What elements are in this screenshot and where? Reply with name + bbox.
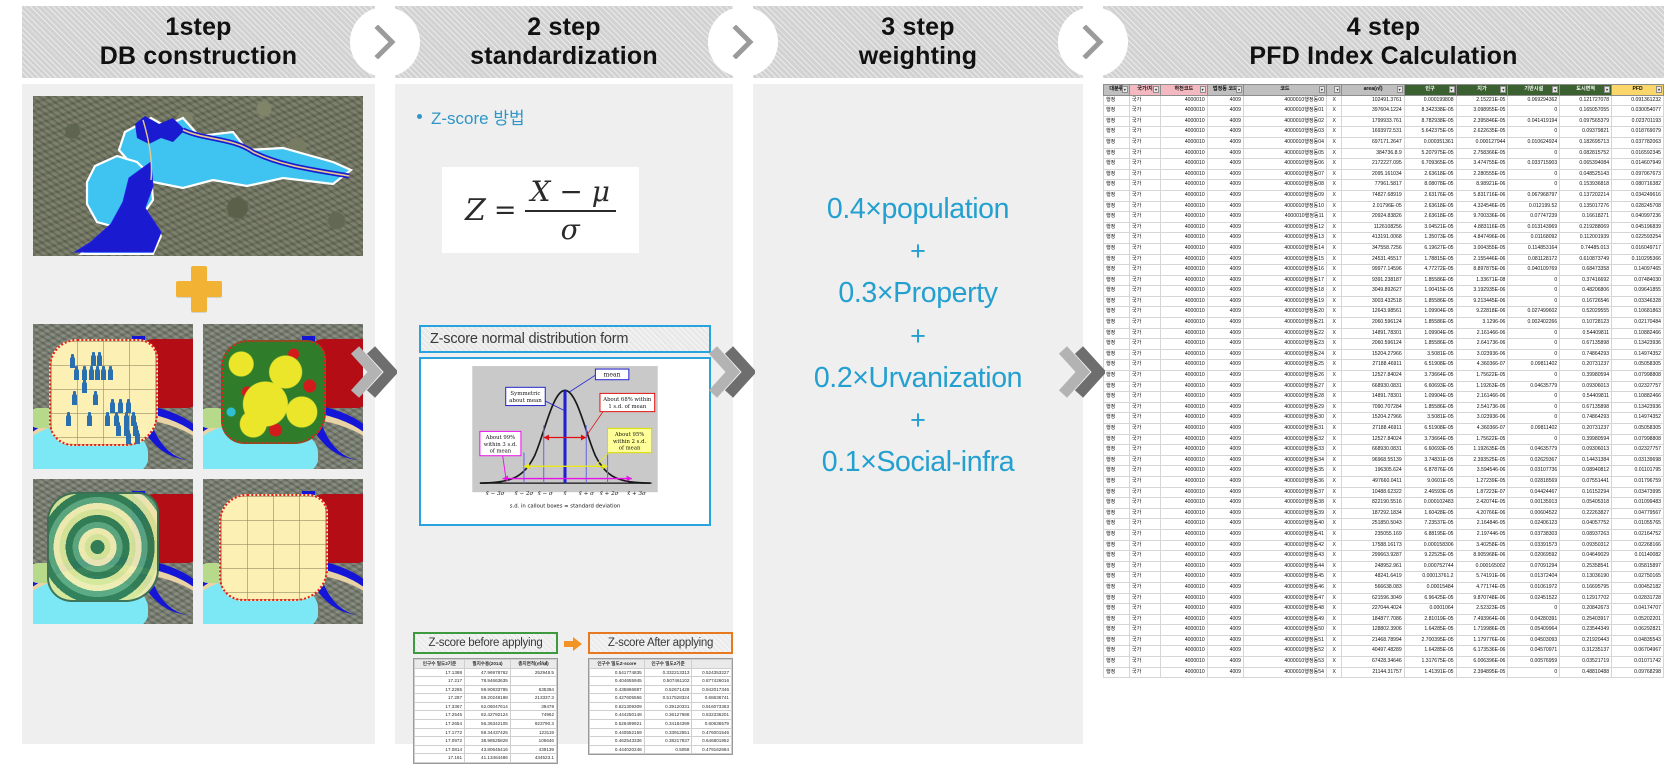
filter-dropdown-icon[interactable]: ▾	[1153, 86, 1159, 93]
table-cell: X	[1326, 582, 1342, 593]
table-cell: 4009	[1207, 201, 1243, 212]
table-row[interactable]: 행정국가400001040094000010행정동50X128802.39061…	[1104, 625, 1664, 636]
table-row[interactable]: 행정국가400001040094000010행정동08X77961.58178.…	[1104, 180, 1664, 191]
table-cell: 0.36127688	[644, 711, 692, 720]
table-row[interactable]: 행정국가400001040094000010행정동23X2060.5961241…	[1104, 339, 1664, 350]
table-row[interactable]: 행정국가400001040094000010행정동35X196305.6246.…	[1104, 466, 1664, 477]
table-cell: 0.68473358	[1560, 265, 1612, 276]
table-cell: 4000010행정동51	[1243, 635, 1326, 646]
table-cell: 0.621309309	[590, 702, 645, 711]
table-cell: 4000010	[1161, 286, 1208, 297]
table-cell: 0.00576959	[1508, 657, 1560, 668]
table-cell: 2060.596124	[1342, 318, 1404, 329]
table-row[interactable]: 행정국가400001040094000010행정동16X99977.145964…	[1104, 265, 1664, 276]
table-cell: 행정	[1104, 593, 1130, 604]
table-cell: 0	[1508, 604, 1560, 615]
table-cell: 행정	[1104, 371, 1130, 382]
table-cell: 0.444250148	[590, 711, 645, 720]
table-row[interactable]: 행정국가400001040094000010행정동05X384736.8.95.…	[1104, 148, 1664, 159]
table-cell: 4000010행정동25	[1243, 360, 1326, 371]
column-header[interactable]: 법정동 코드▾	[1207, 85, 1243, 96]
table-cell: 0.06704967	[1612, 646, 1664, 657]
table-cell: 행정	[1104, 275, 1130, 286]
table-cell: 0.22263827	[1560, 508, 1612, 519]
step-3-column: 3 step weighting 0.4×population+0.3×Prop…	[743, 0, 1093, 748]
column-header[interactable]: 하천코드▾	[1161, 85, 1208, 96]
table-cell: 2095.161034	[1342, 169, 1404, 180]
table-cell: X	[1326, 318, 1342, 329]
column-header[interactable]: 대분류▾	[1104, 85, 1130, 96]
table-cell: 24531.45517	[1342, 254, 1404, 265]
table-row[interactable]: 행정국가400001040094000010행정동31X27188.469116…	[1104, 424, 1664, 435]
table-row[interactable]: 행정국가400001040094000010행정동17X9391.2381871…	[1104, 275, 1664, 286]
table-cell: 행정	[1104, 307, 1130, 318]
table-row[interactable]: 행정국가400001040094000010행정동06X2172227.0956…	[1104, 159, 1664, 170]
table-cell: 0.02750165	[1612, 572, 1664, 583]
table-cell: 2.63618E-05	[1404, 201, 1456, 212]
table-row[interactable]: 행정국가400001040094000010행정동18X3049.8926271…	[1104, 286, 1664, 297]
table-cell: 행정	[1104, 487, 1130, 498]
table-row[interactable]: 행정국가400001040094000010행정동21X2060.5961241…	[1104, 318, 1664, 329]
table-row[interactable]: 행정국가400001040094000010행정동30X15204.279663…	[1104, 413, 1664, 424]
table-cell: 1.192635E-05	[1456, 445, 1508, 456]
table-row[interactable]: 행정국가400001040094000010행정동46X566638.0830.…	[1104, 582, 1664, 593]
step-2-panel: Z-score 방법 Z = X − μ σ Z-score normal di…	[395, 84, 733, 744]
table-cell: 4000010행정동46	[1243, 582, 1326, 593]
svg-text:1 s.d. of mean: 1 s.d. of mean	[608, 404, 646, 410]
svg-text:x̄ − 2σ: x̄ − 2σ	[515, 490, 534, 497]
table-cell: 국가	[1129, 148, 1160, 159]
table-cell: 0.09306013	[1560, 381, 1612, 392]
col-header: 인구수 밀도2기준	[415, 660, 465, 669]
table-cell: 국가	[1129, 349, 1160, 360]
table-cell: 4000010	[1161, 95, 1208, 106]
column-header-label: 도시면적	[1576, 86, 1595, 92]
table-cell: X	[1326, 657, 1342, 668]
table-cell: 행정	[1104, 561, 1130, 572]
filter-dropdown-icon[interactable]: ▾	[1604, 86, 1610, 93]
table-cell: 1.09904E-05	[1404, 392, 1456, 403]
table-cell: 0.02170484	[1612, 318, 1664, 329]
table-row[interactable]: 행정국가400001040094000010행정동22X14891.783011…	[1104, 328, 1664, 339]
column-header-label: area(㎡)	[1364, 86, 1383, 92]
table-cell: 4009	[1207, 582, 1243, 593]
table-cell: 4009	[1207, 529, 1243, 540]
table-cell: 0.60636579	[692, 720, 732, 729]
table-cell: 0	[1508, 413, 1560, 424]
table-cell: 4000010행정동15	[1243, 254, 1326, 265]
table-cell: 4000010행정동19	[1243, 296, 1326, 307]
table-row[interactable]: 행정국가400001040094000010행정동02X1799933.7618…	[1104, 116, 1664, 127]
table-row[interactable]: 행정국가400001040094000010행정동51X21468.789942…	[1104, 635, 1664, 646]
table-row[interactable]: 행정국가400001040094000010행정동40X251850.50437…	[1104, 519, 1664, 530]
table-cell: 0.427605556	[590, 694, 645, 703]
table-cell: 행정	[1104, 349, 1130, 360]
table-cell: 국가	[1129, 466, 1160, 477]
z-score-after: Z-score After applying 인구수 밀도Z-score 인구수…	[588, 632, 733, 755]
table-cell: 4000010	[1161, 201, 1208, 212]
table-cell: 0.000351361	[1404, 137, 1456, 148]
filter-dropdown-icon[interactable]: ▾	[1122, 86, 1128, 93]
svg-text:x̄ − σ: x̄ − σ	[538, 490, 553, 497]
table-cell: X	[1326, 519, 1342, 530]
table-cell: 0.027499602	[1508, 307, 1560, 318]
table-cell: 4009	[1207, 657, 1243, 668]
table-cell: 0.877426016	[692, 677, 732, 686]
table-cell: 4000010행정동26	[1243, 371, 1326, 382]
table-cell: 4.360366-07	[1456, 360, 1508, 371]
table-cell: 4000010	[1161, 466, 1208, 477]
filter-dropdown-icon[interactable]: ▾	[1200, 86, 1206, 93]
table-cell: 행정	[1104, 339, 1130, 350]
table-cell: 1.00415E-05	[1404, 286, 1456, 297]
filter-dropdown-icon[interactable]: ▾	[1334, 86, 1340, 93]
table-cell: 4009	[1207, 296, 1243, 307]
table-cell: 0.14974352	[1612, 413, 1664, 424]
table-cell: 0	[1508, 402, 1560, 413]
table-cell: 0.25358541	[1560, 561, 1612, 572]
table-row[interactable]: 행정국가400001040094000010행정동24X15204.279663…	[1104, 349, 1664, 360]
table-cell: X	[1326, 402, 1342, 413]
table-cell: 4000010행정동17	[1243, 275, 1326, 286]
table-cell: 행정	[1104, 296, 1130, 307]
table-cell: X	[1326, 572, 1342, 583]
table-cell: 4000010행정동33	[1243, 445, 1326, 456]
table-row[interactable]: 행정국가400001040094000010행정동19X3003.4325181…	[1104, 296, 1664, 307]
filter-dropdown-icon[interactable]: ▾	[1552, 86, 1558, 93]
table-cell: 3.023936-06	[1456, 413, 1508, 424]
svg-text:within 2 s.d.: within 2 s.d.	[613, 439, 646, 445]
column-header[interactable]: 도시면적▾	[1560, 85, 1612, 96]
process-flow: 1step DB construction	[0, 0, 1672, 748]
table-cell: 0.000165002	[1456, 561, 1508, 572]
table-cell: 3.5081E-05	[1404, 349, 1456, 360]
filter-dropdown-icon[interactable]: ▾	[1500, 86, 1506, 93]
table-cell: 8.342338E-05	[1404, 106, 1456, 117]
table-cell: 4000010	[1161, 635, 1208, 646]
table-cell: 0.20842673	[1560, 604, 1612, 615]
table-cell: 4009	[1207, 667, 1243, 678]
table-cell: 1.85586E-05	[1404, 275, 1456, 286]
weight-term: 0.1×Social-infra	[753, 441, 1083, 484]
table-cell: 4000010	[1161, 657, 1208, 668]
table-cell: 행정	[1104, 604, 1130, 615]
filter-dropdown-icon[interactable]: ▾	[1236, 86, 1242, 93]
column-header[interactable]: 국가/지▾	[1129, 85, 1160, 96]
table-cell: 0.00135913	[1508, 498, 1560, 509]
table-cell: 17.2265	[415, 685, 465, 694]
table-cell: 4000010	[1161, 487, 1208, 498]
table-cell: 2.393525E-05	[1456, 455, 1508, 466]
table-cell: 0.04649029	[1560, 551, 1612, 562]
table-cell: X	[1326, 127, 1342, 138]
column-header[interactable]: 기반시설▾	[1508, 85, 1560, 96]
column-header-label: 인구	[1425, 86, 1434, 92]
table-cell: 2.758366E-05	[1456, 148, 1508, 159]
table-row[interactable]: 행정국가400001040094000010행정동10X2.01796E-052…	[1104, 201, 1664, 212]
table-row: 0.4440202480.50580.479162684	[590, 745, 732, 754]
table-row[interactable]: 행정국가400001040094000010행정동15X24531.455171…	[1104, 254, 1664, 265]
table-cell: 0.09811402	[1508, 360, 1560, 371]
table-cell: 6.88195E-05	[1404, 529, 1456, 540]
table-cell: 행정	[1104, 572, 1130, 583]
svg-text:About 99%: About 99%	[485, 435, 516, 441]
table-cell: 0.01140082	[1612, 551, 1664, 562]
table-cell: 0.112001939	[1560, 233, 1612, 244]
table-cell: 1.27239E-05	[1456, 476, 1508, 487]
table-cell: 0.04174707	[1612, 604, 1664, 615]
table-cell: 1.33671E-08	[1456, 275, 1508, 286]
table-cell: 4000010	[1161, 349, 1208, 360]
table-cell: 4009	[1207, 455, 1243, 466]
table-cell: 0.03139698	[1612, 455, 1664, 466]
table-cell: 국가	[1129, 476, 1160, 487]
table-row[interactable]: 행정국가400001040094000010행정동54X21144.317571…	[1104, 667, 1664, 678]
table-cell: 77961.5817	[1342, 180, 1404, 191]
table-cell: 0	[1508, 339, 1560, 350]
table-cell: 1.19263E-05	[1456, 381, 1508, 392]
table-cell: 0.01372404	[1508, 572, 1560, 583]
table-row[interactable]: 행정국가400001040094000010행정동38X822190.55160…	[1104, 498, 1664, 509]
table-cell: 0.07998808	[1612, 434, 1664, 445]
column-header[interactable]: 코드▾	[1243, 85, 1326, 96]
table-row[interactable]: 행정국가400001040094000010행정동45X48241.64190.…	[1104, 572, 1664, 583]
table-cell: 1.09904E-05	[1404, 328, 1456, 339]
table-cell: 0.48810488	[1560, 667, 1612, 678]
table-cell: X	[1326, 148, 1342, 159]
table-row[interactable]: 행정국가400001040094000010행정동09X74827.689192…	[1104, 190, 1664, 201]
table-cell: 43.80645416	[465, 745, 511, 754]
table-cell: 0.219288069	[1560, 222, 1612, 233]
table-cell: 0.04424467	[1508, 487, 1560, 498]
table-cell	[510, 677, 556, 686]
table-cell: 4000010행정동42	[1243, 540, 1326, 551]
table-cell: 4000010행정동12	[1243, 222, 1326, 233]
table-cell: 17.2654	[415, 720, 465, 729]
table-cell: 1693972.531	[1342, 127, 1404, 138]
table-cell: 299663.9287	[1342, 551, 1404, 562]
table-cell: 8.98921E-06	[1456, 180, 1508, 191]
table-cell: 행정	[1104, 434, 1130, 445]
table-cell: 0.04570971	[1508, 646, 1560, 657]
table-cell: 2.641736-06	[1456, 339, 1508, 350]
column-header[interactable]: ▾	[1326, 85, 1342, 96]
table-cell: 0.14431384	[1560, 455, 1612, 466]
table-cell: 3.40258E-05	[1456, 540, 1508, 551]
table-row[interactable]: 행정국가400001040094000010행정동26X12527.840243…	[1104, 371, 1664, 382]
table-cell: 행정	[1104, 116, 1130, 127]
weight-term: 0.3×Property	[753, 272, 1083, 315]
column-header[interactable]: PFD▾	[1612, 85, 1664, 96]
table-row[interactable]: 행정국가400001040094000010행정동25X27188.469116…	[1104, 360, 1664, 371]
table-cell: 행정	[1104, 551, 1130, 562]
table-cell: 0.040109769	[1508, 265, 1560, 276]
table-row[interactable]: 행정국가400001040094000010행정동28X14891.783011…	[1104, 392, 1664, 403]
table-cell: 국가	[1129, 646, 1160, 657]
table-row: 0.4405521590.339125510.476001546	[590, 728, 732, 737]
table-cell: 1.85586E-05	[1404, 402, 1456, 413]
table-cell: 국가	[1129, 635, 1160, 646]
table-cell: X	[1326, 328, 1342, 339]
table-row[interactable]: 행정국가400001040094000010행정동13X413191.00681…	[1104, 233, 1664, 244]
table-cell: 국가	[1129, 212, 1160, 223]
table-cell: 10488.62322	[1342, 487, 1404, 498]
column-header[interactable]: 인구▾	[1404, 85, 1456, 96]
spreadsheet-header-row: 대분류▾국가/지▾하천코드▾법정동 코드▾코드▾▾area(㎡)▾인구▾지가▾기…	[1104, 85, 1664, 96]
table-cell: 1.85586E-05	[1404, 339, 1456, 350]
table-cell: 347558.7256	[1342, 243, 1404, 254]
table-cell: 0.74864293	[1560, 413, 1612, 424]
table-row[interactable]: 행정국가400001040094000010행정동53X67428.346461…	[1104, 657, 1664, 668]
table-cell: 국가	[1129, 445, 1160, 456]
table-cell: 2060.596124	[1342, 339, 1404, 350]
table-row[interactable]: 행정국가400001040094000010행정동39X187292.18341…	[1104, 508, 1664, 519]
table-cell: 4000010행정동08	[1243, 180, 1326, 191]
table-row[interactable]: 행정국가400001040094000010행정동41X235055.1696.…	[1104, 529, 1664, 540]
table-cell: 4000010행정동49	[1243, 614, 1326, 625]
table-row[interactable]: 행정국가400001040094000010행정동07X2095.1610342…	[1104, 169, 1664, 180]
table-cell: 3.1296-06	[1456, 318, 1508, 329]
table-row: 0.6213093090.391203310.916073363	[590, 702, 732, 711]
table-row[interactable]: 행정국가400001040094000010행정동01X397604.12248…	[1104, 106, 1664, 117]
table-cell: 0.74864293	[1560, 349, 1612, 360]
table-cell: 4009	[1207, 445, 1243, 456]
table-cell: 4009	[1207, 498, 1243, 509]
table-cell: X	[1326, 487, 1342, 498]
filter-dropdown-icon[interactable]: ▾	[1397, 86, 1403, 93]
table-cell: 행정	[1104, 212, 1130, 223]
table-row[interactable]: 행정국가400001040094000010행정동37X10488.623222…	[1104, 487, 1664, 498]
z-score-after-caption: Z-score After applying	[588, 632, 733, 654]
column-header[interactable]: 지가▾	[1456, 85, 1508, 96]
table-cell: 99977.14596	[1342, 265, 1404, 276]
table-cell: 0.02629367	[1508, 455, 1560, 466]
filter-dropdown-icon[interactable]: ▾	[1319, 86, 1325, 93]
table-cell: 0.028245708	[1612, 201, 1664, 212]
table-cell: 4000010	[1161, 116, 1208, 127]
table-cell: 0.069294362	[1508, 95, 1560, 106]
table-cell: 4009	[1207, 413, 1243, 424]
table-cell: 2.161466-06	[1456, 392, 1508, 403]
table-cell: 4000010	[1161, 222, 1208, 233]
table-cell: 5.642375E-05	[1404, 127, 1456, 138]
table-cell: 0.02268166	[1612, 540, 1664, 551]
table-row[interactable]: 행정국가400001040094000010행정동44X248952.9610.…	[1104, 561, 1664, 572]
table-row[interactable]: 행정국가400001040094000010행정동52X40497.482891…	[1104, 646, 1664, 657]
table-cell: 0.0001064	[1404, 604, 1456, 615]
table-cell: 0.462543336	[590, 737, 645, 746]
table-cell: 4009	[1207, 265, 1243, 276]
table-cell: 0.02327757	[1612, 445, 1664, 456]
table-cell: 822190.5516	[1342, 498, 1404, 509]
table-row[interactable]: 행정국가400001040094000010행정동03X1693972.5315…	[1104, 127, 1664, 138]
table-cell: 행정	[1104, 148, 1130, 159]
table-cell: 0	[1508, 127, 1560, 138]
table-cell: 행정	[1104, 243, 1130, 254]
table-cell: 0.067968797	[1508, 190, 1560, 201]
table-cell: 4009	[1207, 286, 1243, 297]
table-row[interactable]: 행정국가400001040094000010행정동32X12527.840243…	[1104, 434, 1664, 445]
table-cell: 4009	[1207, 519, 1243, 530]
z-score-before-caption: Z-score before applying	[413, 632, 558, 654]
table-cell: 4009	[1207, 572, 1243, 583]
table-cell: 0.013143969	[1508, 222, 1560, 233]
table-row[interactable]: 행정국가400001040094000010행정동42X17588.161730…	[1104, 540, 1664, 551]
table-cell: 4009	[1207, 254, 1243, 265]
table-cell: 0	[1508, 275, 1560, 286]
table-cell: 0.52671428	[644, 685, 692, 694]
table-cell: 2.01796E-05	[1342, 201, 1404, 212]
table-cell: 1799933.761	[1342, 116, 1404, 127]
table-row[interactable]: 행정국가400001040094000010행정동49X184877.70862…	[1104, 614, 1664, 625]
table-cell: 0.05058305	[1612, 424, 1664, 435]
table-cell: 4000010	[1161, 190, 1208, 201]
table-cell: 행정	[1104, 159, 1130, 170]
table-row[interactable]: 행정국가400001040094000010행정동34X96968.551393…	[1104, 455, 1664, 466]
table-cell: 0.09811402	[1508, 424, 1560, 435]
table-cell: 국가	[1129, 381, 1160, 392]
table-cell: 0.38217837	[644, 737, 692, 746]
table-cell: 3.004355E-05	[1456, 243, 1508, 254]
pfd-index-spreadsheet[interactable]: 대분류▾국가/지▾하천코드▾법정동 코드▾코드▾▾area(㎡)▾인구▾지가▾기…	[1103, 84, 1664, 744]
table-row[interactable]: 행정국가400001040094000010행정동20X12643.985611…	[1104, 307, 1664, 318]
table-row[interactable]: 행정국가400001040094000010행정동11X20924.838262…	[1104, 212, 1664, 223]
table-row[interactable]: 행정국가400001040094000010행정동12X11261082563.…	[1104, 222, 1664, 233]
table-cell: 4009	[1207, 625, 1243, 636]
table-cell: 14891.78301	[1342, 328, 1404, 339]
table-cell: 4000010행정동36	[1243, 476, 1326, 487]
table-cell: 0.02069592	[1508, 551, 1560, 562]
table-cell: 6.19627E-05	[1404, 243, 1456, 254]
table-row[interactable]: 행정국가400001040094000010행정동00X102491.37610…	[1104, 95, 1664, 106]
table-cell: 56.36342105	[465, 720, 511, 729]
table-row[interactable]: 행정국가400001040094000010행정동04X697171.26470…	[1104, 137, 1664, 148]
table-cell: 4000010	[1161, 455, 1208, 466]
table-row[interactable]: 행정국가400001040094000010행정동27X668930.08316…	[1104, 381, 1664, 392]
table-cell: 3.5081E-05	[1404, 413, 1456, 424]
step-4-title-line1: 4 step	[1347, 13, 1420, 43]
table-cell: X	[1326, 180, 1342, 191]
table-cell: 17.0972	[415, 737, 465, 746]
svg-text:x̄ + 3σ: x̄ + 3σ	[627, 490, 646, 497]
table-row[interactable]: 행정국가400001040094000010행정동14X347558.72566…	[1104, 243, 1664, 254]
table-cell: 0.517528324	[644, 694, 692, 703]
table-cell: 2.63618E-05	[1404, 169, 1456, 180]
table-row[interactable]: 행정국가400001040094000010행정동29X7090.7072841…	[1104, 402, 1664, 413]
table-cell: 4009	[1207, 212, 1243, 223]
column-header[interactable]: area(㎡)▾	[1342, 85, 1404, 96]
table-cell: X	[1326, 413, 1342, 424]
filter-dropdown-icon[interactable]: ▾	[1656, 86, 1662, 93]
table-row[interactable]: 행정국가400001040094000010행정동33X668930.08316…	[1104, 445, 1664, 456]
table-cell: 4000010	[1161, 381, 1208, 392]
filter-dropdown-icon[interactable]: ▾	[1449, 86, 1455, 93]
step-2-title-line1: 2 step	[527, 13, 600, 43]
table-row[interactable]: 행정국가400001040094000010행정동48X227044.40240…	[1104, 604, 1664, 615]
table-row[interactable]: 행정국가400001040094000010행정동36X497660.04119…	[1104, 476, 1664, 487]
table-cell: X	[1326, 307, 1342, 318]
table-cell: 4000010행정동01	[1243, 106, 1326, 117]
weighting-formula: 0.4×population+0.3×Property+0.2×Urvaniza…	[753, 188, 1083, 484]
table-cell: X	[1326, 116, 1342, 127]
z-score-before: Z-score before applying 인구수 밀도2기준 필지수용(2…	[413, 632, 558, 764]
step-1-title-line2: DB construction	[100, 42, 297, 72]
table-row[interactable]: 행정국가400001040094000010행정동47X621596.30496…	[1104, 593, 1664, 604]
table-row[interactable]: 행정국가400001040094000010행정동43X299663.92879…	[1104, 551, 1664, 562]
table-cell: 1.85586E-05	[1404, 296, 1456, 307]
table-cell: 행정	[1104, 201, 1130, 212]
weight-term: 0.4×population	[753, 188, 1083, 231]
